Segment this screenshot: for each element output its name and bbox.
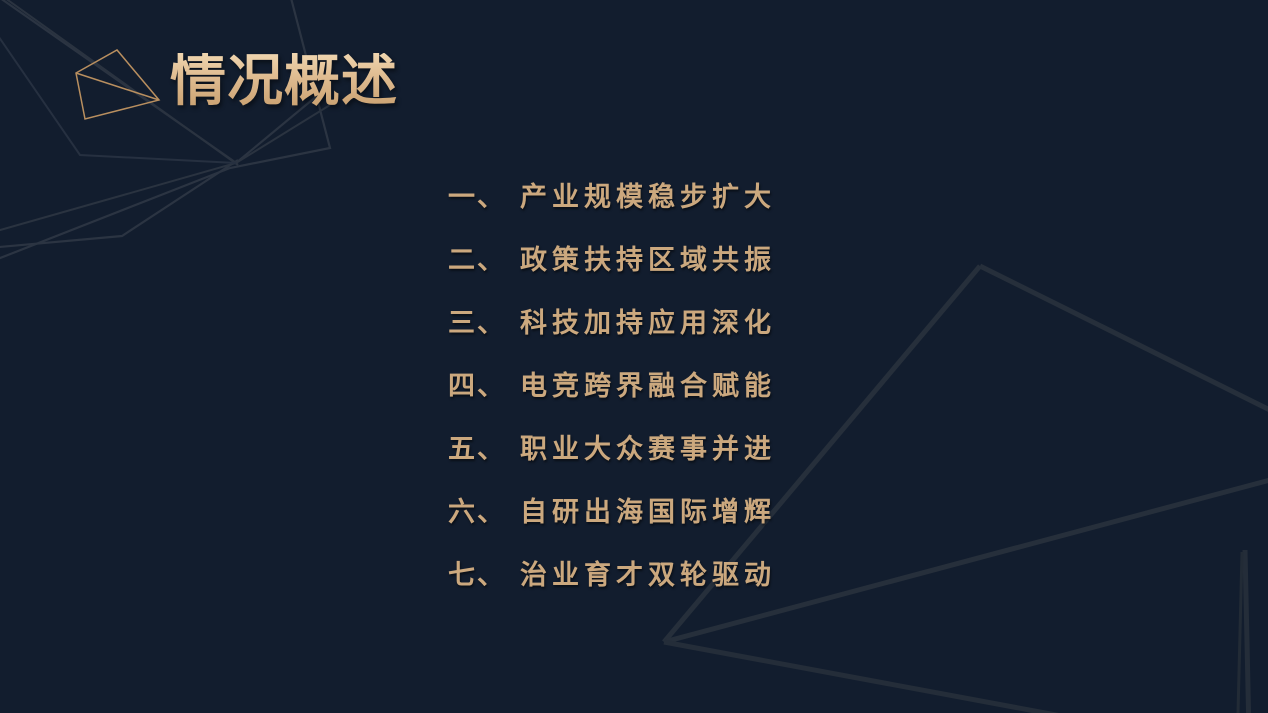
outline-item-label: 治业育才双轮驱动: [520, 562, 776, 589]
outline-item-index: 五、: [448, 436, 506, 463]
dark-polygon-top-left-secondary: [0, 0, 330, 250]
outline-item-index: 二、: [448, 247, 506, 274]
dark-line-bottom-right-edge: [1238, 552, 1242, 713]
outline-item-label: 职业大众赛事并进: [520, 436, 776, 463]
outline-item-index: 一、: [448, 184, 506, 211]
outline-item-2[interactable]: 二、 政策扶持区域共振: [448, 229, 868, 292]
gold-diamond-outline: [76, 50, 159, 119]
outline-item-label: 自研出海国际增辉: [520, 499, 776, 526]
outline-item-index: 六、: [448, 499, 506, 526]
outline-item-label: 产业规模稳步扩大: [520, 184, 776, 211]
dark-polygon-top-left: [0, 0, 330, 262]
outline-item-4[interactable]: 四、 电竞跨界融合赋能: [448, 355, 868, 418]
page-title-block: 情况概述: [170, 46, 398, 116]
outline-item-label: 电竞跨界融合赋能: [520, 373, 776, 400]
outline-item-5[interactable]: 五、 职业大众赛事并进: [448, 418, 868, 481]
outline-item-7[interactable]: 七、 治业育才双轮驱动: [448, 544, 868, 607]
outline-item-6[interactable]: 六、 自研出海国际增辉: [448, 481, 868, 544]
outline-item-label: 科技加持应用深化: [520, 310, 776, 337]
outline-item-1[interactable]: 一、 产业规模稳步扩大: [448, 166, 868, 229]
outline-item-index: 三、: [448, 310, 506, 337]
slide-canvas: 情况概述 一、 产业规模稳步扩大 二、 政策扶持区域共振 三、 科技加持应用深化…: [0, 0, 1268, 713]
outline-item-label: 政策扶持区域共振: [520, 247, 776, 274]
page-title: 情况概述: [170, 53, 398, 109]
outline-list: 一、 产业规模稳步扩大 二、 政策扶持区域共振 三、 科技加持应用深化 四、 电…: [448, 166, 868, 607]
outline-item-3[interactable]: 三、 科技加持应用深化: [448, 292, 868, 355]
outline-item-index: 七、: [448, 562, 506, 589]
outline-item-index: 四、: [448, 373, 506, 400]
